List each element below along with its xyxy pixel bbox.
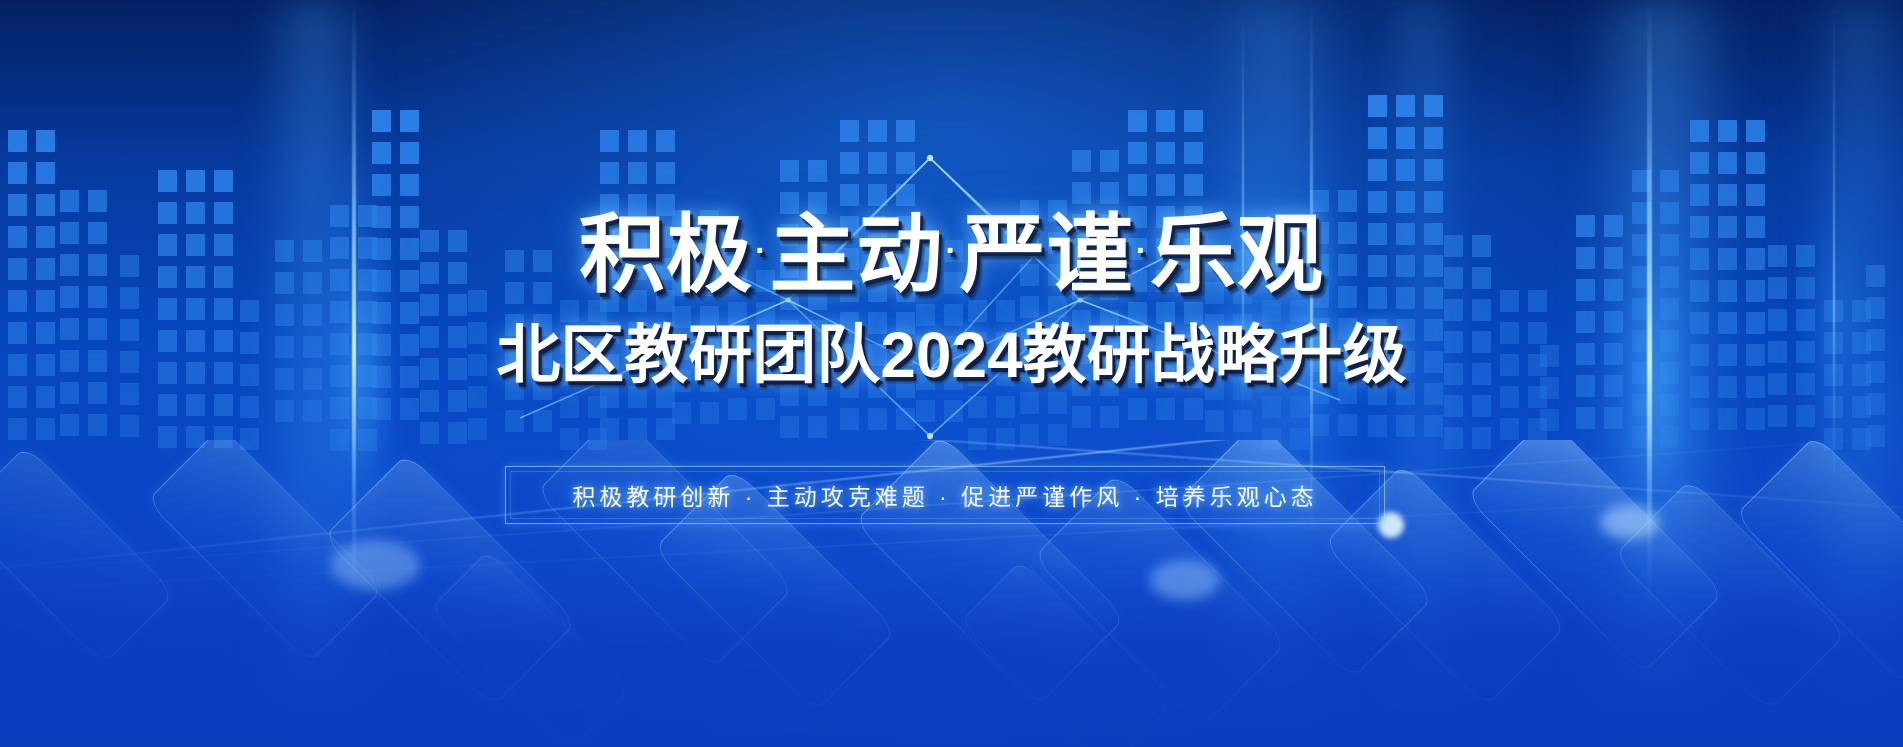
title-word-2: 主动 [769, 207, 943, 303]
tagline-text: 积极教研创新 · 主动攻克难题 · 促进严谨作风 · 培养乐观心态 [506, 467, 1384, 523]
title-separator: · [753, 232, 769, 270]
title-word-4: 乐观 [1150, 207, 1324, 303]
title-separator: · [943, 232, 959, 270]
title-word-3: 严谨 [960, 207, 1134, 303]
page-title-main: 积极·主动·严谨·乐观 [0, 212, 1903, 298]
title-separator: · [1134, 232, 1150, 270]
page-title-sub: 北区教研团队2024教研战略升级 [0, 323, 1903, 387]
tagline-frame: 积极教研创新 · 主动攻克难题 · 促进严谨作风 · 培养乐观心态 [505, 466, 1385, 524]
banner-root: 积极·主动·严谨·乐观 北区教研团队2024教研战略升级 积极教研创新 · 主动… [0, 0, 1903, 747]
banner-text-block: 积极·主动·严谨·乐观 北区教研团队2024教研战略升级 积极教研创新 · 主动… [0, 0, 1903, 747]
title-word-1: 积极 [579, 207, 753, 303]
